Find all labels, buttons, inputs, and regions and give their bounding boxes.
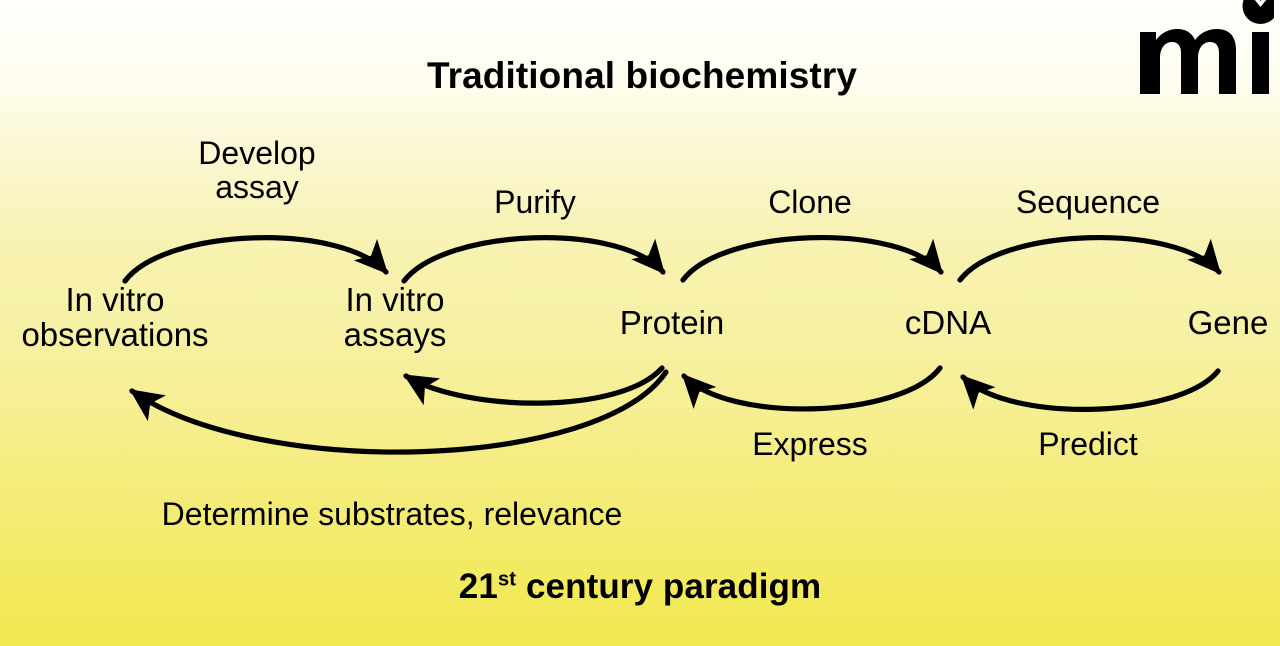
- node-label-line1: In vitro: [21, 283, 208, 318]
- arc-sequence: [960, 238, 1219, 280]
- arc-determine-substrates: [132, 372, 666, 452]
- arc-protein-to-assays: [406, 368, 662, 403]
- page-subtitle: 21st century paradigm: [459, 568, 822, 605]
- node-label-line1: Protein: [620, 306, 725, 341]
- arc-develop-assay: [125, 238, 386, 281]
- node-gene: Gene: [1188, 306, 1269, 341]
- edge-label-line1: Clone: [768, 186, 852, 220]
- arc-predict: [963, 371, 1218, 409]
- edge-label-line1: Express: [752, 428, 868, 462]
- node-in-vitro-observations: In vitro observations: [21, 283, 208, 353]
- page-title: Traditional biochemistry: [427, 56, 857, 95]
- edge-label-predict: Predict: [1038, 428, 1138, 462]
- subtitle-prefix: 21: [459, 567, 498, 606]
- arc-clone: [683, 238, 941, 280]
- edge-label-develop-assay: Develop assay: [198, 137, 315, 205]
- edge-label-sequence: Sequence: [1016, 186, 1160, 220]
- node-label-line1: Gene: [1188, 306, 1269, 341]
- arc-purify: [404, 238, 663, 281]
- node-cdna: cDNA: [905, 306, 991, 341]
- edge-label-line2: assay: [198, 171, 315, 205]
- node-label-line2: assays: [344, 318, 447, 353]
- node-label-line1: cDNA: [905, 306, 991, 341]
- node-label-line1: In vitro: [344, 283, 447, 318]
- edge-label-purify: Purify: [494, 186, 576, 220]
- mi-logo: [1134, 0, 1274, 102]
- edge-label-line1: Purify: [494, 186, 576, 220]
- node-in-vitro-assays: In vitro assays: [344, 283, 447, 353]
- note-determine-substrates: Determine substrates, relevance: [162, 498, 623, 532]
- edge-label-line1: Sequence: [1016, 186, 1160, 220]
- edge-label-clone: Clone: [768, 186, 852, 220]
- edge-label-line1: Predict: [1038, 428, 1138, 462]
- arc-express: [684, 368, 940, 409]
- subtitle-ordinal-suffix: st: [498, 568, 516, 590]
- subtitle-rest: century paradigm: [516, 567, 821, 606]
- node-label-line2: observations: [21, 318, 208, 353]
- edge-label-express: Express: [752, 428, 868, 462]
- node-protein: Protein: [620, 306, 725, 341]
- slide-canvas: Traditional biochemistry 21st century pa…: [0, 0, 1280, 646]
- edge-label-line1: Develop: [198, 137, 315, 171]
